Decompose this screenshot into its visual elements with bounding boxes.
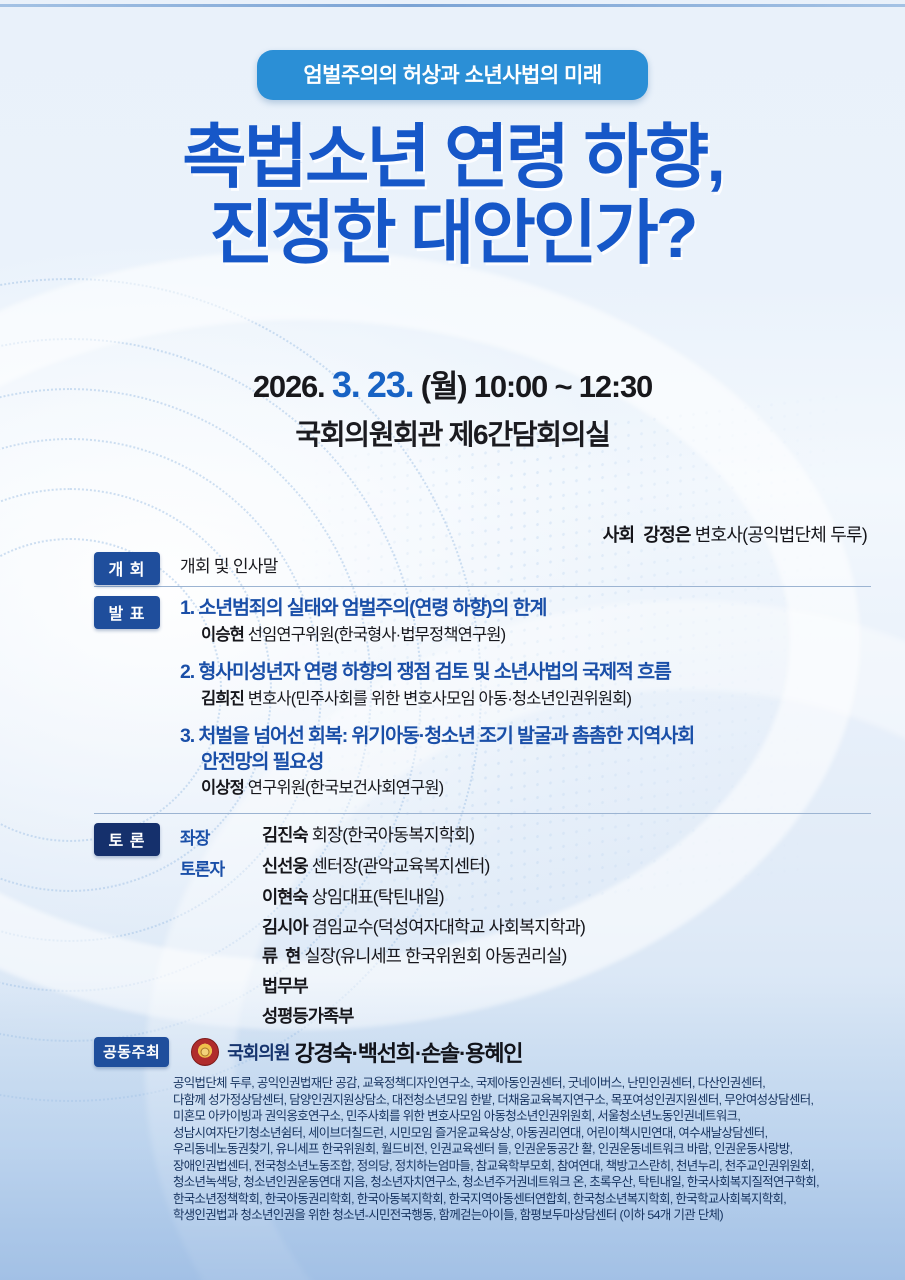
- mp-names: 강경숙·백선희·손솔·용혜인: [294, 1036, 522, 1068]
- event-year: 2026.: [253, 369, 325, 404]
- panelist-1-title: 센터장(관악교육복지센터): [312, 856, 490, 876]
- panelist-1-name: 신선웅: [262, 856, 308, 876]
- mp-label: 국회의원: [227, 1039, 289, 1065]
- program-block: 개 회 개회 및 인사말 발 표 1. 소년범죄의 실태와 엄벌주의(연령 하향…: [0, 552, 905, 1029]
- org-line: 장애인권법센터, 전국청소년노동조합, 정의당, 정치하는엄마들, 참교육학부모…: [173, 1158, 871, 1175]
- national-assembly-emblem-icon: [191, 1038, 219, 1066]
- chair-title: 회장(한국아동복지학회): [312, 825, 474, 845]
- poster-canvas: 엄벌주의의 허상과 소년사법의 미래 촉법소년 연령 하향, 진정한 대안인가?…: [0, 0, 905, 1280]
- event-datetime-block: 2026. 3. 23. (월) 10:00 ~ 12:30 국회의원회관 제6…: [0, 362, 905, 453]
- panelist-1: 신선웅 센터장(관악교육복지센터): [262, 854, 871, 879]
- panelist-5: 법무부: [262, 974, 871, 999]
- session-1-title: 1. 소년범죄의 실태와 엄벌주의(연령 하향)의 한계: [180, 596, 871, 622]
- chair-name: 김진숙: [262, 825, 308, 845]
- event-day: 23.: [367, 364, 413, 405]
- session-3-title-line-2: 안전망의 필요성: [180, 750, 871, 776]
- panelist-5-name: 법무부: [262, 976, 308, 996]
- event-time: 10:00 ~ 12:30: [474, 369, 652, 404]
- moderator-affiliation: 변호사(공익법단체 두루): [695, 525, 867, 545]
- session-3-title-line-1: 3. 처벌을 넘어선 회복: 위기아동·청소년 조기 발굴과 촘촘한 지역사회: [180, 724, 871, 750]
- ribbon-text: 엄벌주의의 허상과 소년사법의 미래: [257, 50, 647, 100]
- panelist-2: 이현숙 상임대표(탁틴내일): [262, 885, 871, 910]
- event-month: 3.: [332, 364, 360, 405]
- panelist-3: 김시아 겸임교수(덕성여자대학교 사회복지학과): [262, 915, 871, 940]
- discussion-panel-role: 토론자: [180, 854, 252, 880]
- tag-cohost: 공동주최: [94, 1037, 169, 1067]
- panelist-4: 류 현 실장(유니세프 한국위원회 아동권리실): [262, 944, 871, 969]
- org-line: 한국소년정책학회, 한국아동권리학회, 한국아동복지학회, 한국지역아동센터연합…: [173, 1191, 871, 1208]
- org-line: 미혼모 아카이빙과 권익옹호연구소, 민주사회를 위한 변호사모임 아동청소년인…: [173, 1108, 871, 1125]
- divider-1: [94, 586, 871, 587]
- moderator-name: 강정은: [643, 525, 690, 545]
- program-row-discussion: 토 론 좌장 김진숙 회장(한국아동복지학회) 토론자 신선웅 센터장(관악교육…: [0, 823, 905, 1029]
- session-2-speaker-title: 변호사(민주사회를 위한 변호사모임 아동·청소년인권위원회): [248, 690, 631, 708]
- panelist-6-name: 성평등가족부: [262, 1006, 354, 1026]
- session-1: 1. 소년범죄의 실태와 엄벌주의(연령 하향)의 한계 이승현 선임연구위원(…: [180, 596, 871, 646]
- session-1-speaker-title: 선임연구위원(한국형사·법무정책연구원): [248, 626, 506, 644]
- tag-discussion: 토 론: [94, 823, 160, 856]
- panelist-2-title: 상임대표(탁틴내일): [312, 887, 444, 907]
- session-2-speaker-name: 김희진: [201, 690, 244, 708]
- title-line-1: 촉법소년 연령 하향,: [0, 120, 905, 196]
- event-venue: 국회의원회관 제6간담회의실: [0, 413, 905, 453]
- program-row-presentation: 발 표 1. 소년범죄의 실태와 엄벌주의(연령 하향)의 한계 이승현 선임연…: [0, 596, 905, 800]
- hosts-header: 공동주최 국회의원 강경숙·백선희·손솔·용혜인: [0, 1036, 905, 1068]
- title-line-2: 진정한 대안인가?: [0, 196, 905, 272]
- session-2-title: 2. 형사미성년자 연령 하향의 쟁점 검토 및 소년사법의 국제적 흐름: [180, 660, 871, 686]
- panelist-6: 성평등가족부: [262, 1004, 871, 1029]
- moderator-line: 사회강정은 변호사(공익법단체 두루): [603, 521, 867, 547]
- panelist-4-name: 류 현: [262, 946, 301, 966]
- event-date-line: 2026. 3. 23. (월) 10:00 ~ 12:30: [0, 362, 905, 407]
- session-2: 2. 형사미성년자 연령 하향의 쟁점 검토 및 소년사법의 국제적 흐름 김희…: [180, 660, 871, 710]
- session-3-speaker-name: 이상정: [201, 779, 244, 797]
- discussion-chair: 김진숙 회장(한국아동복지학회): [262, 823, 871, 848]
- program-row-opening: 개 회 개회 및 인사말: [0, 552, 905, 577]
- org-line: 우리동네노동권찾기, 유니세프 한국위원회, 월드비전, 인권교육센터 들, 인…: [173, 1141, 871, 1158]
- org-line: 다함께 성가정상담센터, 담양인권지원상담소, 대전청소년모임 한밭, 더채움교…: [173, 1092, 871, 1109]
- session-2-speaker: 김희진 변호사(민주사회를 위한 변호사모임 아동·청소년인권위원회): [180, 688, 871, 710]
- org-line: 공익법단체 두루, 공익인권법재단 공감, 교육정책디자인연구소, 국제아동인권…: [173, 1075, 871, 1092]
- moderator-label: 사회: [603, 525, 635, 545]
- org-line: 성남시여자단기청소년쉼터, 세이브더칠드런, 시민모임 즐거운교육상상, 아동권…: [173, 1125, 871, 1142]
- divider-2: [94, 813, 871, 814]
- org-line: 청소년녹색당, 청소년인권운동연대 지음, 청소년자치연구소, 청소년주거권네트…: [173, 1174, 871, 1191]
- panelist-3-name: 김시아: [262, 917, 308, 937]
- discussion-chair-role: 좌장: [180, 823, 252, 849]
- session-3: 3. 처벌을 넘어선 회복: 위기아동·청소년 조기 발굴과 촘촘한 지역사회 …: [180, 724, 871, 800]
- session-3-speaker: 이상정 연구위원(한국보건사회연구원): [180, 777, 871, 799]
- opening-text: 개회 및 인사말: [180, 552, 871, 577]
- org-line: 학생인권법과 청소년인권을 위한 청소년-시민전국행동, 함께걷는아이들, 함평…: [173, 1207, 871, 1224]
- panelist-4-title: 실장(유니세프 한국위원회 아동권리실): [305, 946, 567, 966]
- organization-list: 공익법단체 두루, 공익인권법재단 공감, 교육정책디자인연구소, 국제아동인권…: [173, 1075, 871, 1224]
- session-1-speaker-name: 이승현: [201, 626, 244, 644]
- ribbon-banner: 엄벌주의의 허상과 소년사법의 미래: [0, 50, 905, 100]
- event-weekday: (월): [421, 369, 467, 404]
- discussion-grid: 좌장 김진숙 회장(한국아동복지학회) 토론자 신선웅 센터장(관악교육복지센터…: [180, 823, 871, 1029]
- tag-presentation: 발 표: [94, 596, 160, 629]
- page-title: 촉법소년 연령 하향, 진정한 대안인가?: [0, 120, 905, 271]
- top-rule: [0, 4, 905, 7]
- session-3-speaker-title: 연구위원(한국보건사회연구원): [248, 779, 444, 797]
- panelist-3-title: 겸임교수(덕성여자대학교 사회복지학과): [312, 917, 585, 937]
- hosts-block: 공동주최 국회의원 강경숙·백선희·손솔·용혜인 공익법단체 두루, 공익인권법…: [0, 1036, 905, 1224]
- session-1-speaker: 이승현 선임연구위원(한국형사·법무정책연구원): [180, 624, 871, 646]
- tag-opening: 개 회: [94, 552, 160, 585]
- panelist-2-name: 이현숙: [262, 887, 308, 907]
